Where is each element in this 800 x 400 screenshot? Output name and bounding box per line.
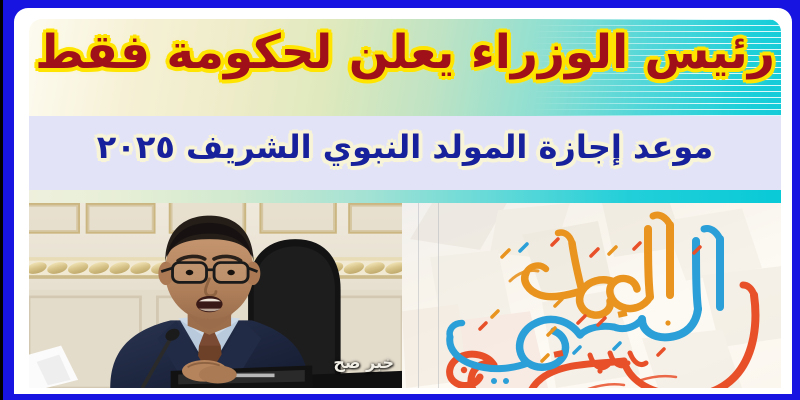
prime-minister-photo: خبر صح [29, 203, 402, 388]
calligraphy-artwork [402, 203, 781, 388]
headline-band-secondary: موعد إجازة المولد النبوي الشريف ٢٠٢٥ [29, 116, 781, 190]
headline-primary: رئيس الوزراء يعلن لحكومة فقط [29, 27, 781, 79]
headline-secondary: موعد إجازة المولد النبوي الشريف ٢٠٢٥ [29, 130, 781, 165]
calligraphy-word-al-sharif [450, 285, 756, 388]
inner-white-mat: رئيس الوزراء يعلن لحكومة فقط موعد إجازة … [14, 8, 792, 394]
teal-divider-strip [29, 190, 781, 203]
calligraphy-image [402, 203, 781, 388]
media-row: خبر صح [29, 203, 781, 388]
thumbnail-canvas: رئيس الوزراء يعلن لحكومة فقط موعد إجازة … [0, 0, 800, 400]
outer-blue-border: رئيس الوزراء يعلن لحكومة فقط موعد إجازة … [3, 0, 800, 400]
calligraphy-word-al-mawlid [510, 215, 670, 315]
headline-band-primary: رئيس الوزراء يعلن لحكومة فقط [29, 19, 781, 116]
